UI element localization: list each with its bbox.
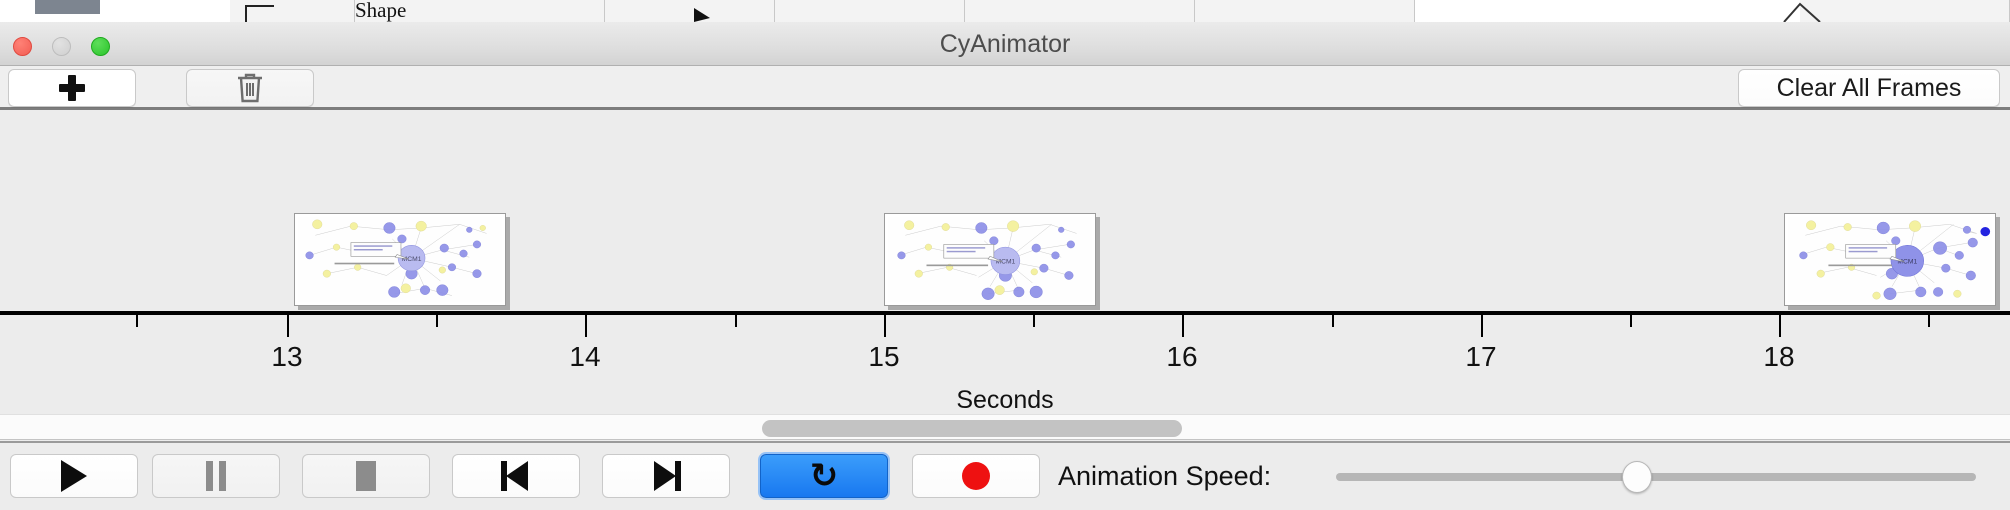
svg-text:MCM1: MCM1 [402,256,422,263]
background-cursor-icon [690,8,730,22]
keyframe-thumbnail[interactable]: MCM1 [884,213,1096,306]
axis-tick-major [287,315,289,337]
axis-tick-label: 13 [271,341,302,373]
stop-icon [356,461,376,491]
network-thumbnail-image: MCM1 [298,217,502,302]
network-thumbnail-image: MCM1 [1788,217,1992,302]
background-label-shape: Shape [355,0,406,22]
axis-tick-major [1481,315,1483,337]
skip-forward-icon [651,461,681,491]
background-glyph [240,0,300,22]
plus-icon [59,75,85,101]
background-titlebar-chip [35,0,100,14]
axis-tick-label: 15 [868,341,899,373]
loop-button[interactable]: ↻ [760,454,888,498]
axis-tick-minor [735,315,737,327]
network-thumbnail-image: MCM1 [888,217,1092,302]
playback-control-bar: ↻ Animation Speed: [0,441,2010,510]
add-frame-button[interactable] [8,69,136,107]
trash-icon [235,71,265,105]
axis-tick-major [1182,315,1184,337]
background-column [775,0,965,22]
axis-tick-major [585,315,587,337]
loop-icon: ↻ [810,459,839,493]
axis-tick-minor [1332,315,1334,327]
keyframe-thumbnail[interactable]: MCM1 [1784,213,1996,306]
delete-frame-button[interactable] [186,69,314,107]
skip-back-icon [501,461,531,491]
axis-tick-label: 18 [1763,341,1794,373]
timeline-panel[interactable]: MCM1 [0,113,2010,414]
axis-tick-minor [1033,315,1035,327]
skip-to-end-button[interactable] [602,454,730,498]
play-icon [61,460,87,492]
timeline-horizontal-scrollbar[interactable] [0,414,2010,440]
pause-icon [205,461,227,491]
axis-tick-label: 17 [1465,341,1496,373]
timeline-axis [0,311,2010,315]
slider-thumb[interactable] [1622,461,1652,493]
record-icon [962,462,990,490]
keyframe-thumbnail[interactable]: MCM1 [294,213,506,306]
animation-speed-slider[interactable] [1336,473,1976,481]
window-title: CyAnimator [0,22,2010,66]
axis-tick-minor [436,315,438,327]
axis-title: Seconds [0,386,2010,414]
axis-tick-label: 14 [569,341,600,373]
background-column [1195,0,1415,22]
background-application: Shape [0,0,2010,22]
slider-track [1336,473,1976,481]
scrollbar-thumb[interactable] [762,420,1182,437]
record-button[interactable] [912,454,1040,498]
axis-tick-major [884,315,886,337]
background-column [965,0,1195,22]
background-glyph [1780,0,1860,22]
stop-button[interactable] [302,454,430,498]
axis-tick-label: 16 [1166,341,1197,373]
play-button[interactable] [10,454,138,498]
toolbar: Clear All Frames [0,66,2010,110]
axis-tick-minor [136,315,138,327]
animation-speed-label: Animation Speed: [1058,454,1271,498]
skip-to-start-button[interactable] [452,454,580,498]
axis-tick-major [1779,315,1781,337]
clear-all-frames-button[interactable]: Clear All Frames [1738,69,2000,107]
pause-button[interactable] [152,454,280,498]
axis-tick-minor [1630,315,1632,327]
axis-tick-minor [1928,315,1930,327]
